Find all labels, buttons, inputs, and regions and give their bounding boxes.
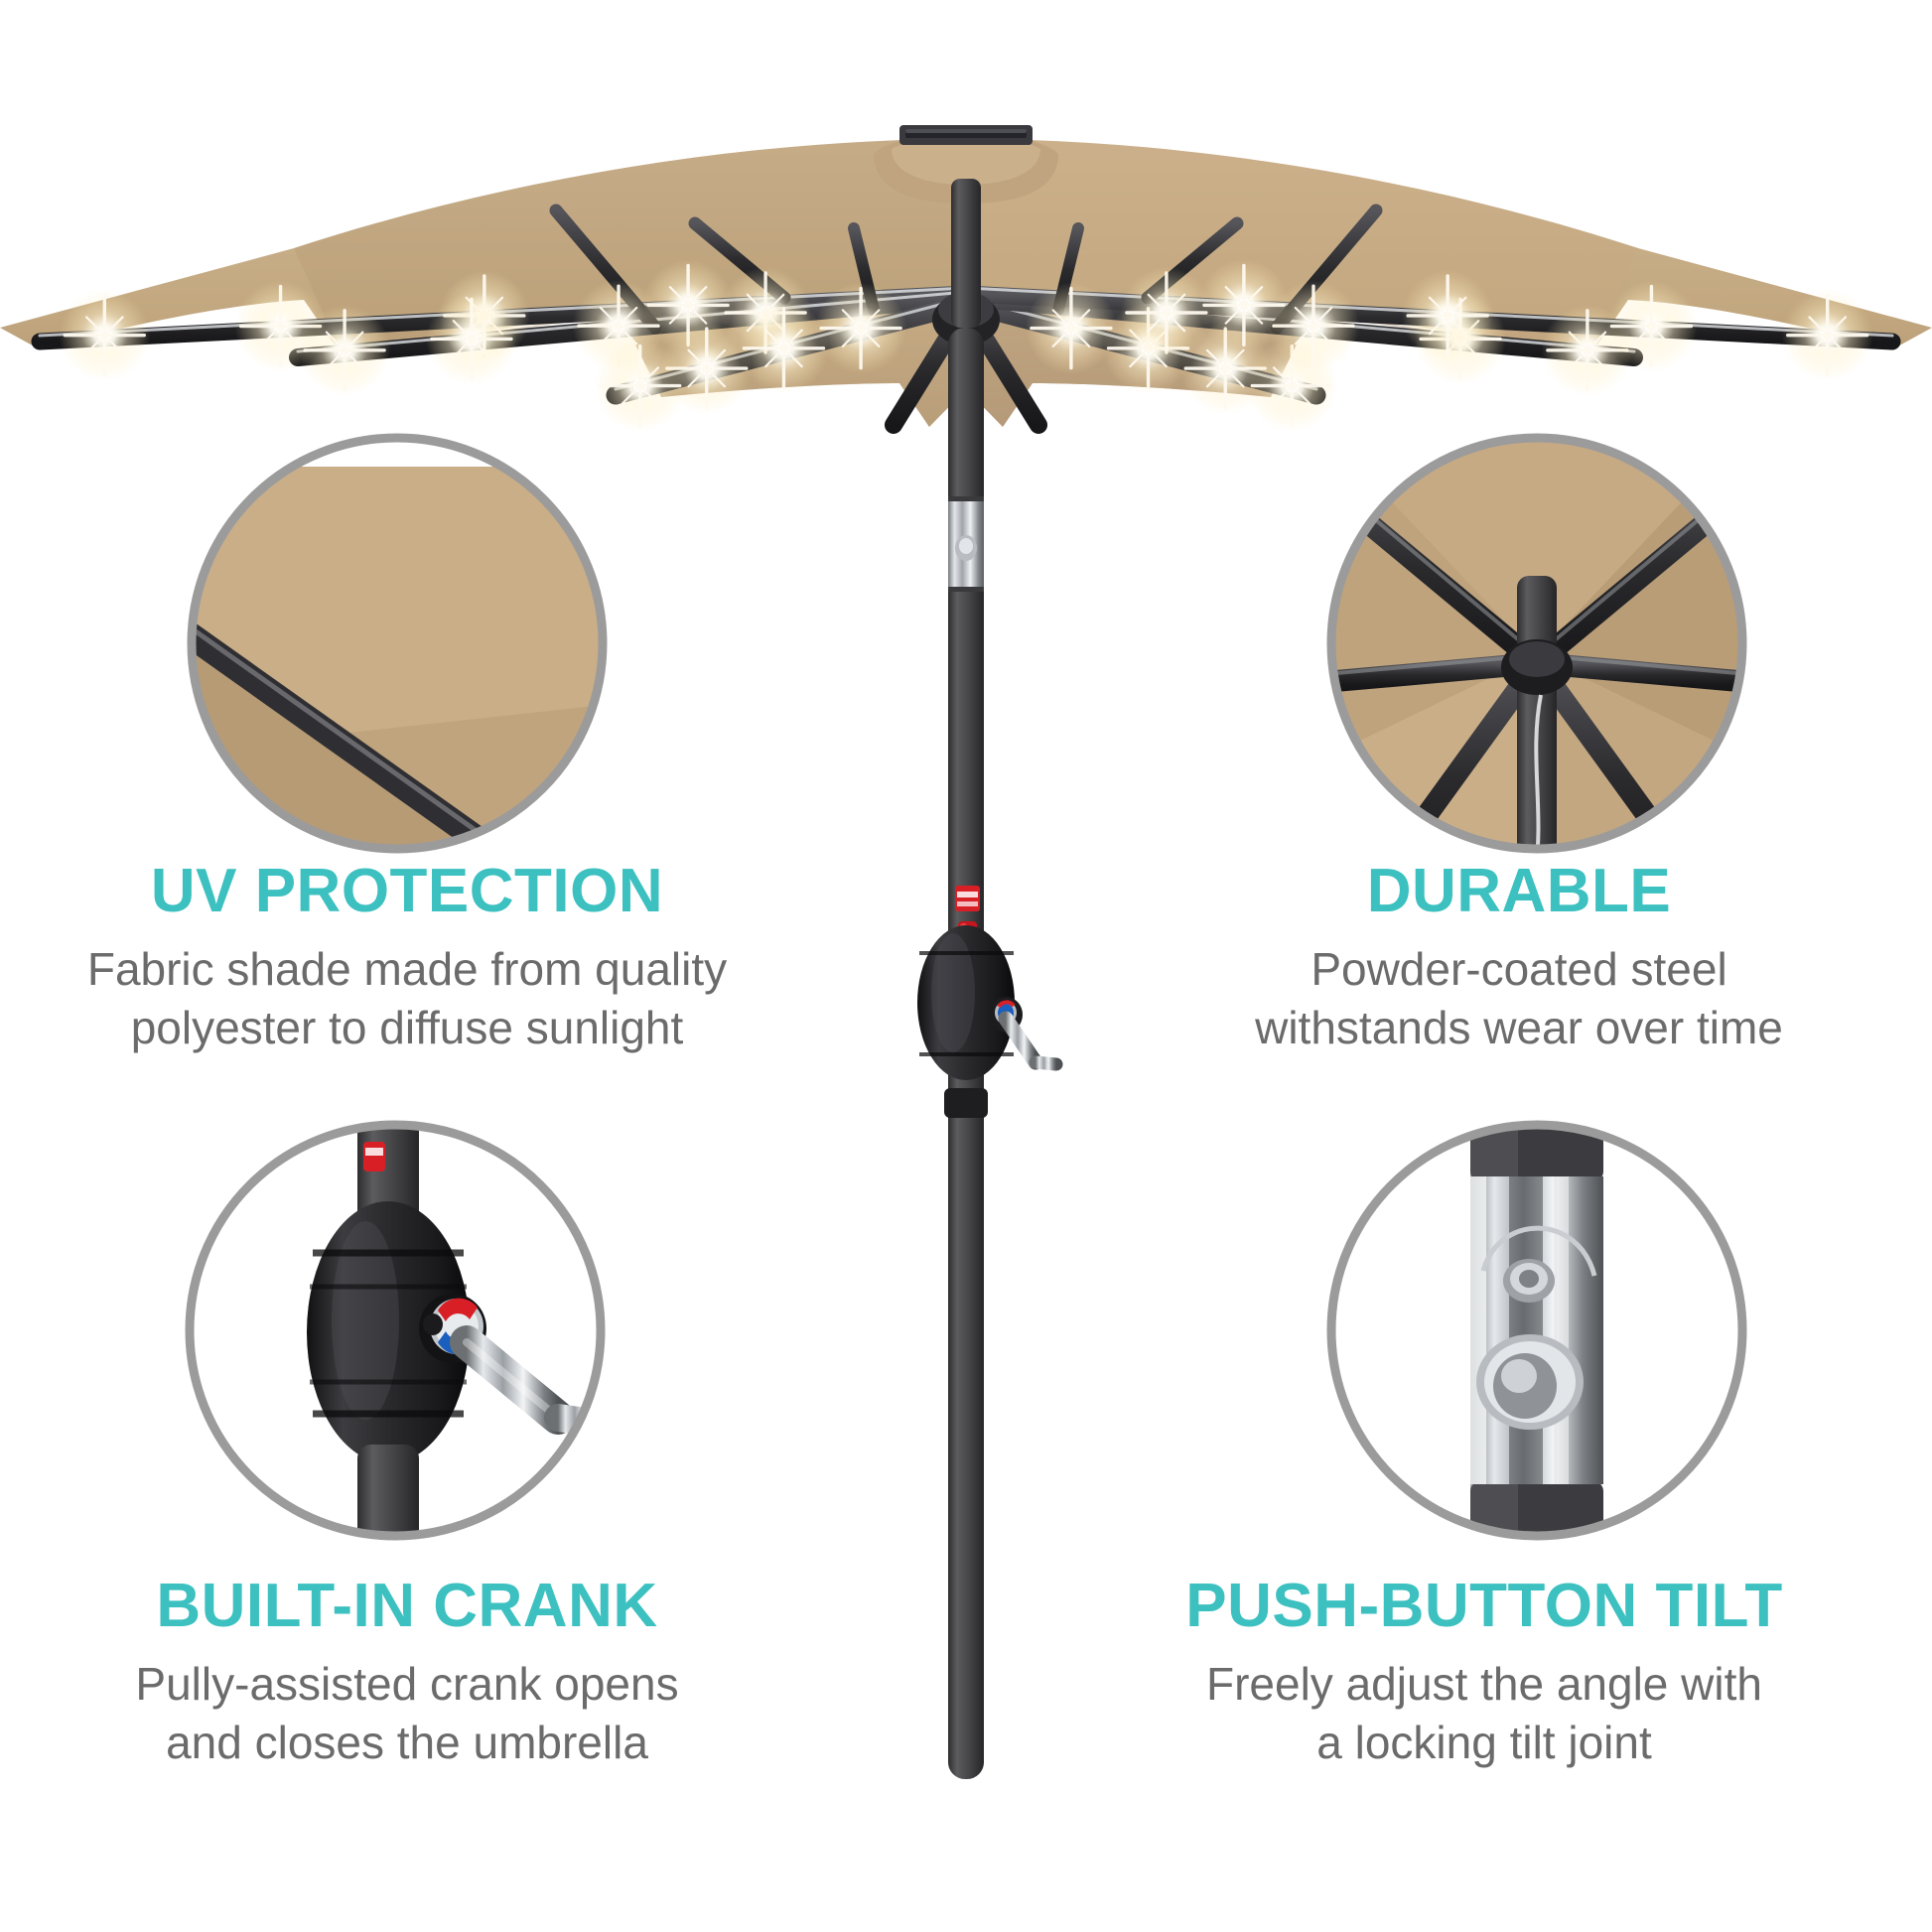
feature-title: PUSH-BUTTON TILT xyxy=(1072,1575,1896,1637)
feature-built-in-crank: BUILT-IN CRANK Pully-assisted crank open… xyxy=(30,1575,784,1772)
feature-durable: DURABLE Powder-coated steel withstands w… xyxy=(1142,860,1896,1057)
feature-body: Pully-assisted crank opens and closes th… xyxy=(30,1655,784,1772)
feature-title: UV PROTECTION xyxy=(30,860,784,922)
crank-housing xyxy=(917,925,1056,1118)
solar-panel xyxy=(899,125,1033,145)
feature-title: BUILT-IN CRANK xyxy=(30,1575,784,1637)
warning-sticker xyxy=(955,886,980,911)
callout-push-button-tilt xyxy=(1331,1092,1742,1576)
feature-body: Powder-coated steel withstands wear over… xyxy=(1142,940,1896,1057)
feature-body: Freely adjust the angle with a locking t… xyxy=(1072,1655,1896,1772)
feature-push-button-tilt: PUSH-BUTTON TILT Freely adjust the angle… xyxy=(1072,1575,1896,1772)
callout-durable xyxy=(1291,438,1783,894)
feature-uv-protection: UV PROTECTION Fabric shade made from qua… xyxy=(30,860,784,1057)
callout-built-in-crank xyxy=(190,1112,601,1603)
feature-body: Fabric shade made from quality polyester… xyxy=(30,940,784,1057)
feature-title: DURABLE xyxy=(1142,860,1896,922)
infographic-canvas: UV PROTECTION Fabric shade made from qua… xyxy=(0,0,1932,1932)
